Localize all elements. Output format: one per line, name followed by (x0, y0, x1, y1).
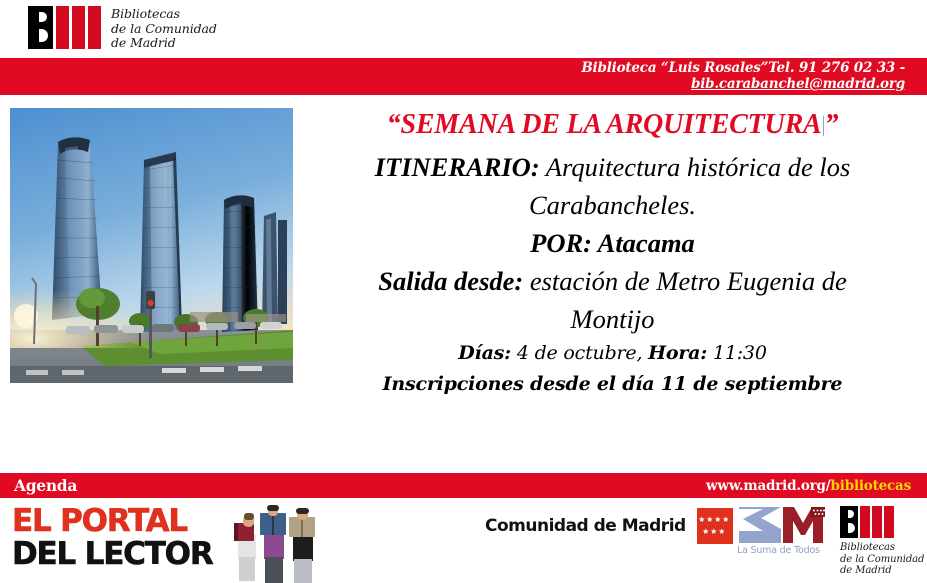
biii-logo-mark (28, 6, 101, 49)
biii-letter-b-icon (28, 6, 53, 49)
cuatro-torres-illustration (10, 108, 293, 383)
poster-line-carabancheles: Carabancheles. (305, 186, 920, 224)
biii-bar-2-icon (72, 6, 85, 49)
biii-footer-bar-3-icon (884, 506, 894, 538)
footer-url-accent: bibliotecas (831, 478, 911, 494)
el-portal-del-lector-logo: EL PORTAL DEL LECTOR (12, 505, 312, 583)
poster-text-block: “SEMANA DE LA ARQUITECTURA” ITINERARIO: … (305, 108, 920, 400)
itinerario-label: ITINERARIO: (375, 152, 540, 182)
logo-line-1: Bibliotecas (111, 7, 217, 22)
header-contact-text: Biblioteca “Luis Rosales”Tel. 91 276 02 … (581, 60, 905, 92)
footer-bar: Agenda www.madrid.org/bibliotecas (0, 473, 927, 498)
montijo-value: Montijo (571, 304, 655, 334)
header-contact-bar: Biblioteca “Luis Rosales”Tel. 91 276 02 … (0, 58, 927, 95)
days-label: Días: (458, 342, 511, 364)
biii-footer-line-2: de la Comunidad (840, 554, 924, 566)
biii-footer-mark (840, 506, 924, 538)
comunidad-de-madrid-text: Comunidad de Madrid (485, 516, 686, 536)
carabancheles-value: Carabancheles. (529, 190, 696, 220)
bibliotecas-logo-footer: Bibliotecas de la Comunidad de Madrid (840, 506, 924, 577)
logo-line-3: de Madrid (111, 36, 217, 51)
biii-footer-letter-b-icon (840, 506, 858, 538)
contact-email-link[interactable]: bib.carabanchel@madrid.org (581, 76, 905, 92)
biii-footer-text: Bibliotecas de la Comunidad de Madrid (840, 538, 924, 577)
footer-website-url[interactable]: www.madrid.org/bibliotecas (706, 478, 911, 494)
footer-url-base: www.madrid.org/ (706, 478, 831, 494)
contact-phone-line: Biblioteca “Luis Rosales”Tel. 91 276 02 … (581, 60, 905, 76)
days-value: 4 de octubre, (511, 342, 648, 364)
bibliotecas-logo-text: Bibliotecas de la Comunidad de Madrid (111, 6, 217, 51)
biii-footer-line-1: Bibliotecas (840, 542, 924, 554)
hour-label: Hora: (648, 342, 707, 364)
agenda-label: Agenda (14, 476, 77, 495)
architecture-photo (10, 108, 293, 383)
poster-line-salida: Salida desde: estación de Metro Eugenia … (305, 262, 920, 300)
comunidad-de-madrid-logo: Comunidad de Madrid (485, 508, 733, 544)
por-label: POR: (530, 228, 592, 258)
biii-bar-3-icon (88, 6, 101, 49)
por-value: Atacama (592, 228, 695, 258)
biii-footer-line-3: de Madrid (840, 565, 924, 577)
biii-bar-1-icon (56, 6, 69, 49)
poster-line-date: Días: 4 de octubre, Hora: 11:30 (305, 338, 920, 369)
poster-line-por: POR: Atacama (305, 224, 920, 262)
salida-value: estación de Metro Eugenia de (523, 266, 847, 296)
suma-caption-text: La Suma de Todos (737, 545, 820, 556)
poster-line-itinerario: ITINERARIO: Arquitectura histórica de lo… (305, 148, 920, 186)
hour-value: 11:30 (707, 342, 767, 364)
poster-title: “SEMANA DE LA ARQUITECTURA” (305, 108, 920, 142)
bibliotecas-logo-header: Bibliotecas de la Comunidad de Madrid (28, 6, 217, 51)
madrid-stars-icon (697, 508, 733, 544)
text-caret-icon (823, 116, 824, 136)
itinerario-value: Arquitectura histórica de los (540, 152, 851, 182)
logo-line-2: de la Comunidad (111, 22, 217, 37)
biii-footer-bar-2-icon (872, 506, 882, 538)
biii-footer-bar-1-icon (860, 506, 870, 538)
poster-title-text: “SEMANA DE LA ARQUITECTURA (387, 109, 822, 140)
readers-illustration (230, 505, 320, 583)
seven-stars-svg (697, 508, 733, 544)
poster-title-close-quote: ” (825, 109, 839, 140)
poster-line-montijo: Montijo (305, 300, 920, 338)
la-suma-de-todos-logo: La Suma de Todos (737, 505, 829, 560)
salida-label: Salida desde: (378, 266, 523, 296)
suma-mark-icon (737, 505, 829, 545)
poster-line-signup: Inscripciones desde el día 11 de septiem… (305, 369, 920, 400)
